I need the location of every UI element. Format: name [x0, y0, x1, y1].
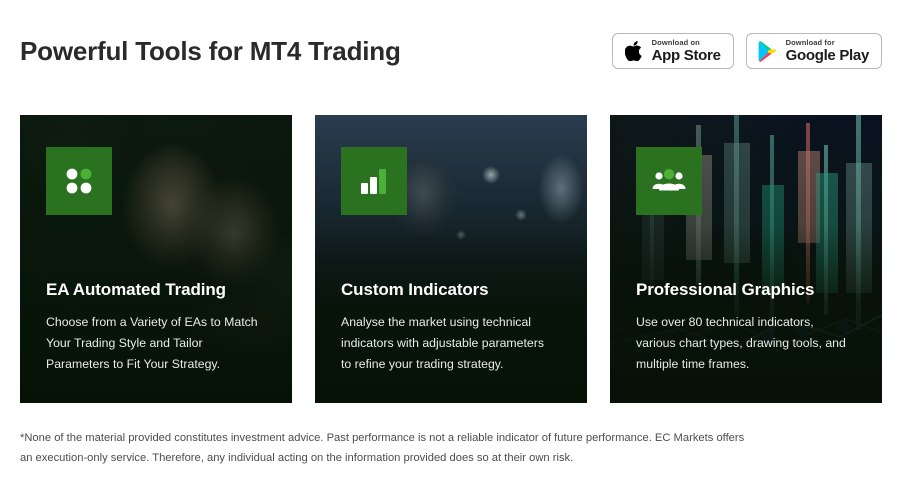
app-store-button[interactable]: Download on App Store — [612, 33, 734, 69]
card-content: EA Automated Trading Choose from a Varie… — [46, 147, 274, 403]
page-root: Powerful Tools for MT4 Trading Download … — [0, 0, 900, 500]
google-play-icon — [758, 40, 778, 62]
feature-card-professional-graphics[interactable]: Professional Graphics Use over 80 techni… — [610, 115, 882, 403]
page-header: Powerful Tools for MT4 Trading Download … — [20, 26, 882, 76]
app-store-top-label: Download on — [652, 39, 721, 47]
google-play-button[interactable]: Download for Google Play — [746, 33, 882, 69]
google-play-bottom-label: Google Play — [786, 48, 869, 63]
card-title: Custom Indicators — [341, 280, 489, 300]
page-title: Powerful Tools for MT4 Trading — [20, 36, 401, 67]
bar-chart-icon — [341, 147, 407, 215]
google-play-label-group: Download for Google Play — [786, 39, 869, 64]
app-store-label-group: Download on App Store — [652, 39, 721, 64]
feature-card-custom-indicators[interactable]: Custom Indicators Analyse the market usi… — [315, 115, 587, 403]
apple-icon — [624, 40, 644, 62]
app-store-bottom-label: App Store — [652, 48, 721, 63]
feature-card-ea-automated-trading[interactable]: EA Automated Trading Choose from a Varie… — [20, 115, 292, 403]
card-description: Use over 80 technical indicators, variou… — [636, 312, 851, 375]
feature-cards: EA Automated Trading Choose from a Varie… — [20, 115, 882, 403]
card-description: Analyse the market using technical indic… — [341, 312, 556, 375]
store-badges: Download on App Store Download for Googl… — [612, 33, 882, 69]
card-content: Custom Indicators Analyse the market usi… — [341, 147, 569, 403]
card-content: Professional Graphics Use over 80 techni… — [636, 147, 864, 403]
four-dots-grid-icon — [46, 147, 112, 215]
disclaimer-text: *None of the material provided constitut… — [20, 428, 750, 468]
card-title: Professional Graphics — [636, 280, 814, 300]
card-description: Choose from a Variety of EAs to Match Yo… — [46, 312, 261, 375]
people-group-icon — [636, 147, 702, 215]
google-play-top-label: Download for — [786, 39, 869, 47]
card-title: EA Automated Trading — [46, 280, 226, 300]
